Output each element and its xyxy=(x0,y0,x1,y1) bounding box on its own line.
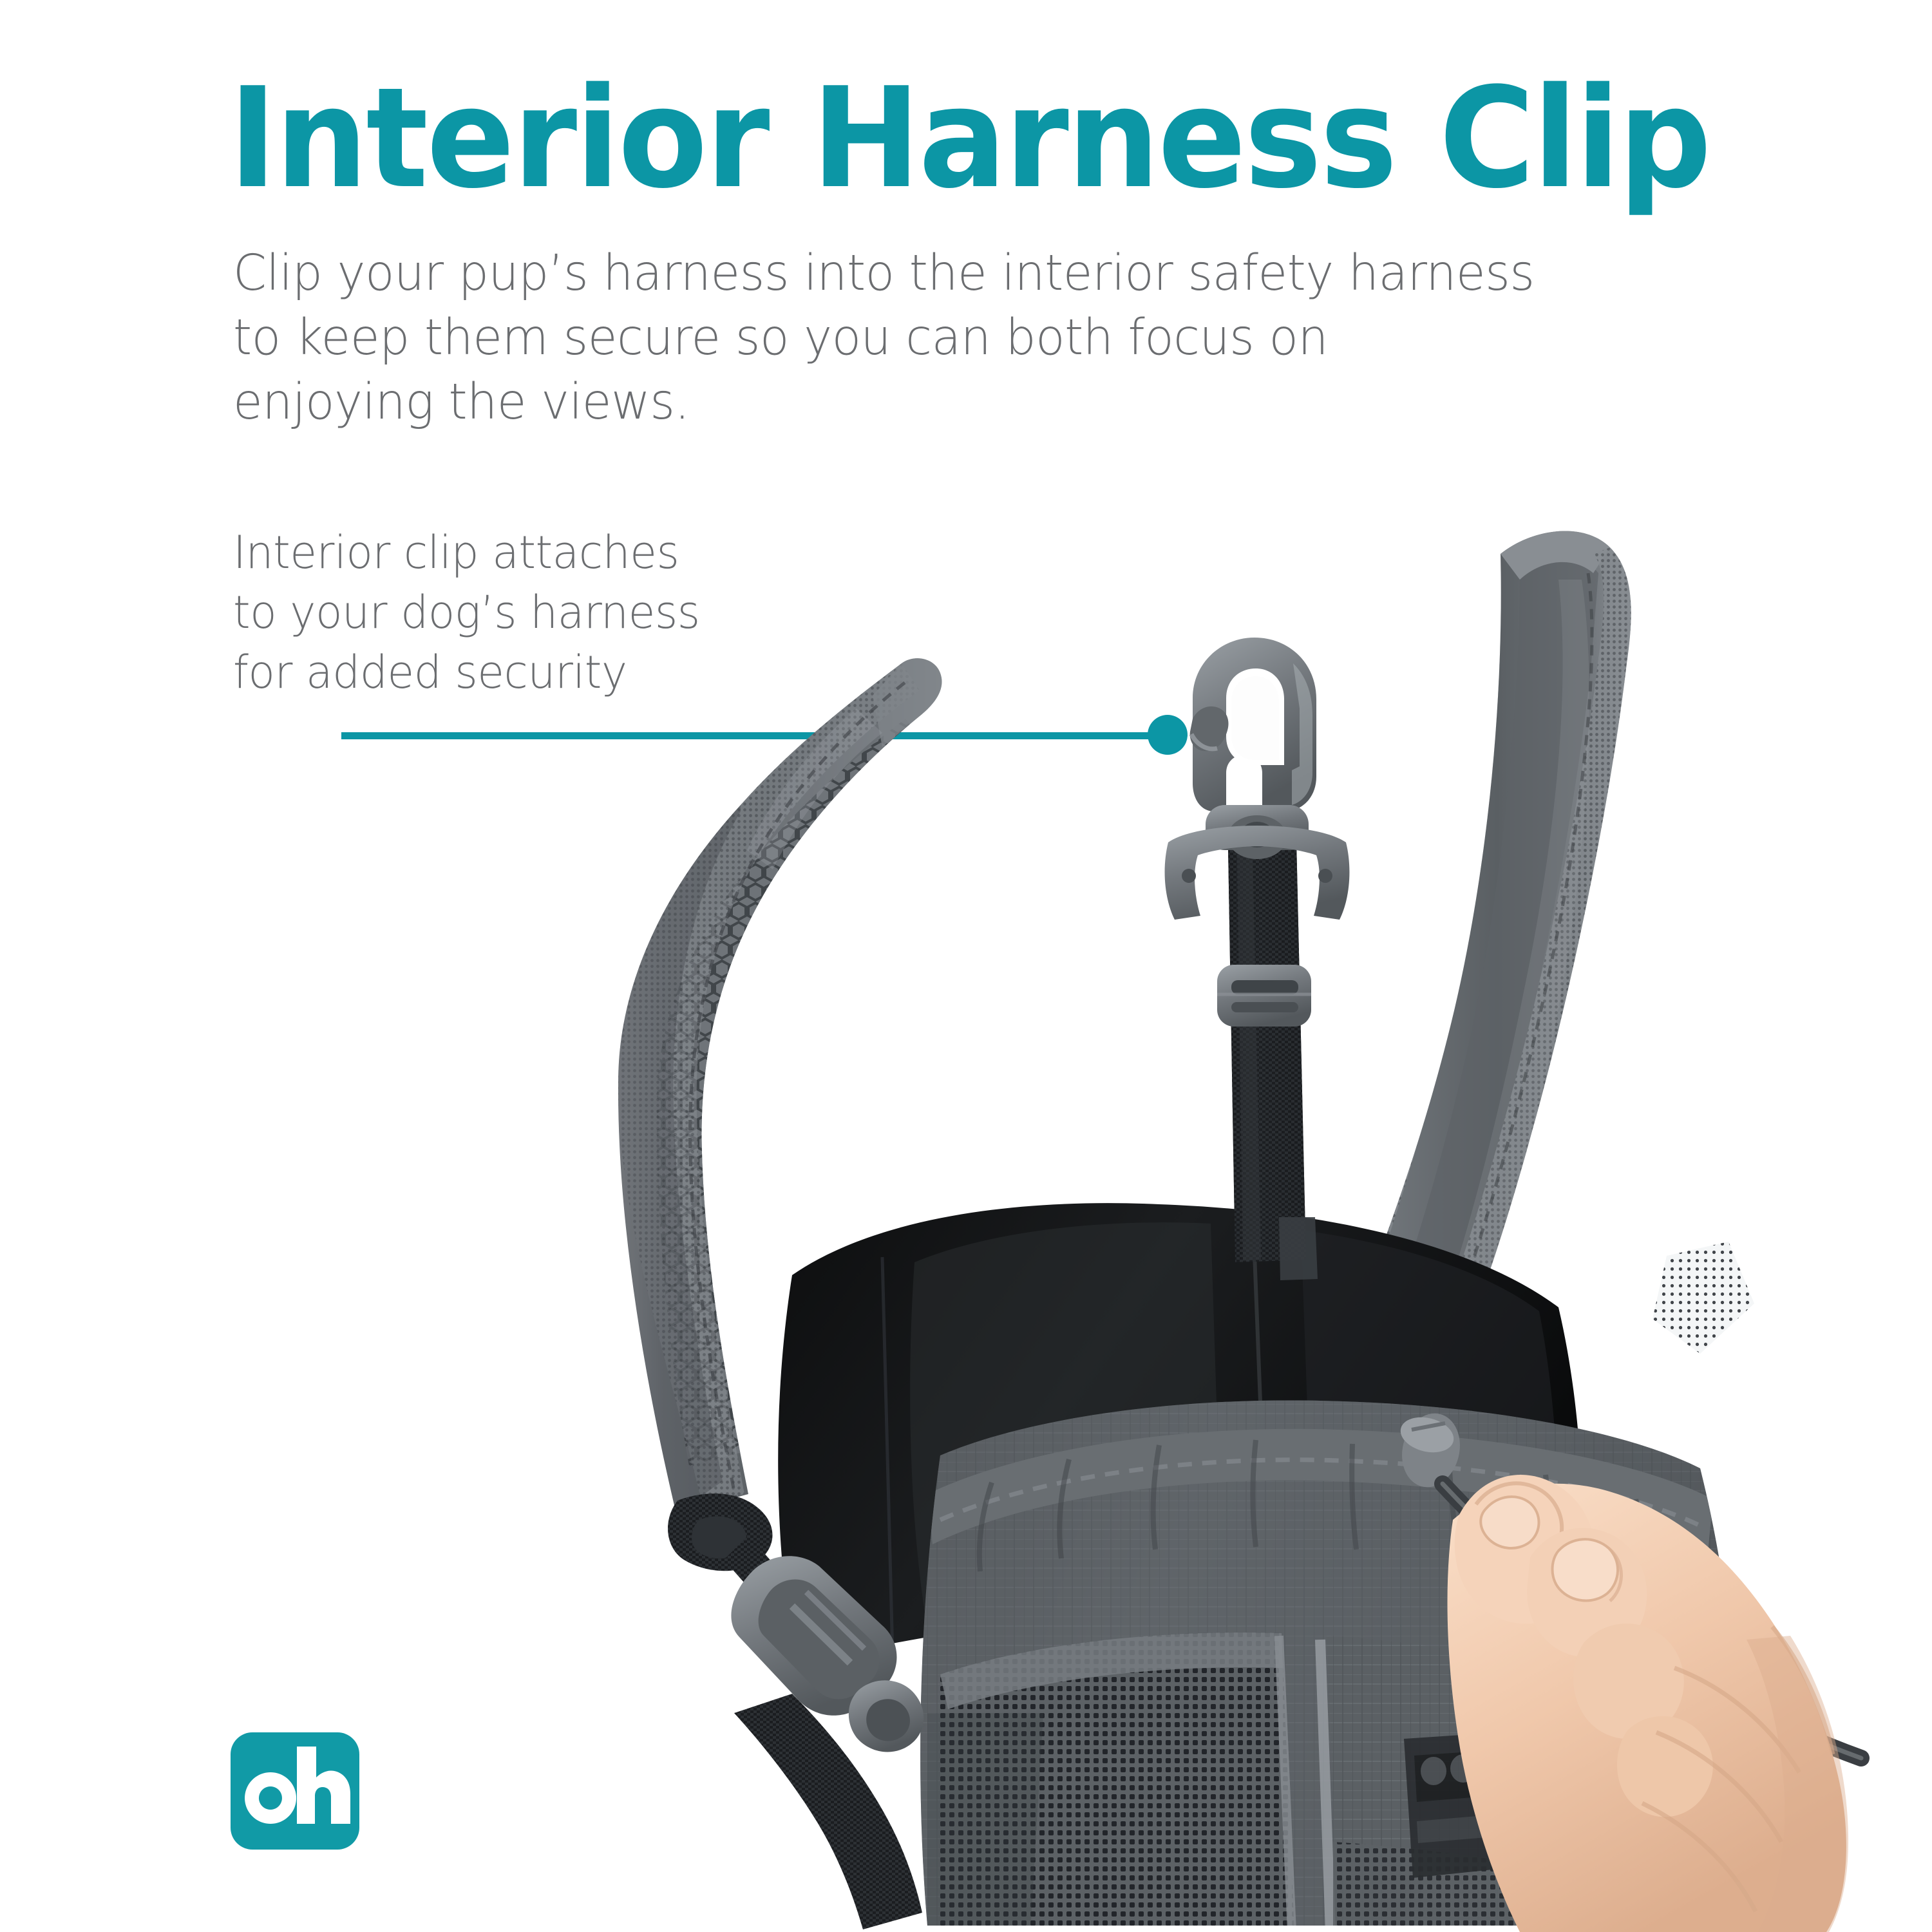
page-title: Interior Harness Clip xyxy=(229,71,1710,207)
harness-webbing-strap xyxy=(1227,811,1306,1262)
product-image xyxy=(580,361,1932,1932)
description-line: Clip your pup’s harness into the interio… xyxy=(233,241,1551,306)
hand xyxy=(1447,1475,1848,1932)
harness-adjuster-buckle xyxy=(1217,965,1311,1027)
infographic-canvas: Interior Harness Clip Clip your pup’s ha… xyxy=(0,0,1932,1932)
top-webbing-loop xyxy=(1279,1217,1318,1280)
brand-logo xyxy=(231,1732,359,1850)
reflective-patch xyxy=(1653,1242,1754,1354)
